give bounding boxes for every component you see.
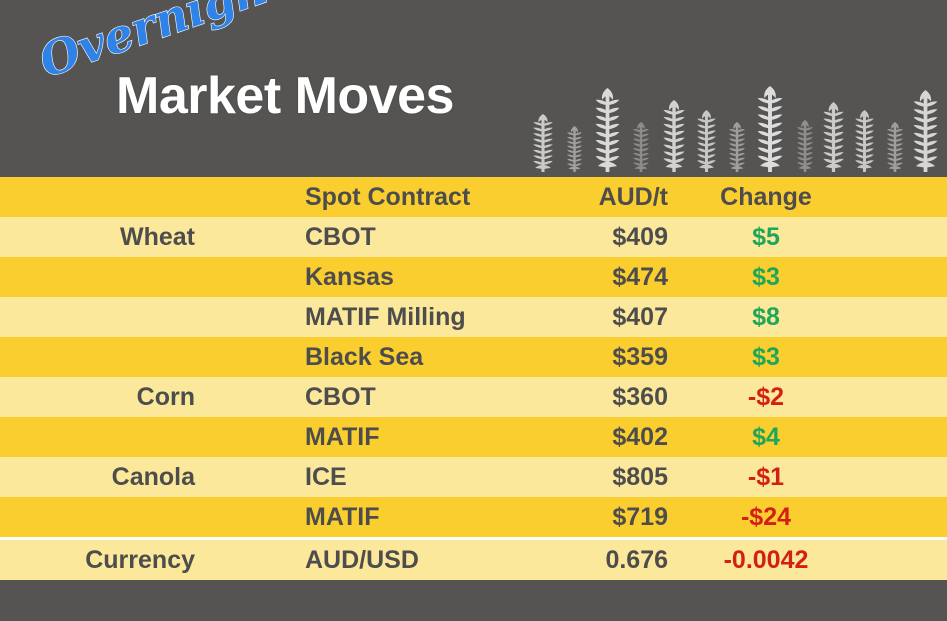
wheat-stalk-icon	[696, 110, 717, 172]
table-row: MATIF$402$4	[0, 417, 947, 457]
wheat-stalk-icon	[822, 102, 845, 172]
cell-contract: MATIF	[305, 497, 380, 537]
cell-price: $359	[468, 337, 668, 377]
column-header-contract: Spot Contract	[305, 177, 470, 217]
cell-change: -$1	[672, 457, 860, 497]
cell-commodity	[0, 497, 195, 537]
title-block: Overnight Market Moves	[48, 18, 518, 158]
cell-change: -0.0042	[672, 540, 860, 580]
table-row: CanolaICE$805-$1	[0, 457, 947, 497]
cell-price: $409	[468, 217, 668, 257]
cell-price: $805	[468, 457, 668, 497]
cell-commodity: Corn	[0, 377, 195, 417]
table-row: WheatCBOT$409$5	[0, 217, 947, 257]
wheat-stalk-icon	[854, 110, 875, 172]
table-row: MATIF$719-$24	[0, 497, 947, 537]
cell-contract: MATIF	[305, 417, 380, 457]
page-title: Market Moves	[116, 66, 454, 126]
cell-contract: Kansas	[305, 257, 394, 297]
market-table: Spot Contract AUD/t Change WheatCBOT$409…	[0, 177, 947, 580]
cell-price: 0.676	[468, 540, 668, 580]
cell-contract: CBOT	[305, 217, 376, 257]
cell-price: $719	[468, 497, 668, 537]
wheat-stalk-icon	[594, 88, 621, 172]
cell-commodity: Canola	[0, 457, 195, 497]
cell-change: $8	[672, 297, 860, 337]
table-body: WheatCBOT$409$5Kansas$474$3MATIF Milling…	[0, 217, 947, 580]
cell-commodity	[0, 417, 195, 457]
cell-price: $407	[468, 297, 668, 337]
wheat-stalk-icon	[728, 122, 746, 172]
cell-change: -$2	[672, 377, 860, 417]
cell-change: $4	[672, 417, 860, 457]
cell-commodity	[0, 337, 195, 377]
table-row: Black Sea$359$3	[0, 337, 947, 377]
cell-commodity	[0, 297, 195, 337]
cell-commodity: Currency	[0, 540, 195, 580]
wheat-stalk-icon	[662, 100, 686, 172]
footer-banner	[0, 580, 947, 621]
wheat-stalk-icon	[886, 122, 904, 172]
table-row: CurrencyAUD/USD0.676-0.0042	[0, 540, 947, 580]
table-row: CornCBOT$360-$2	[0, 377, 947, 417]
cell-commodity	[0, 257, 195, 297]
cell-change: $5	[672, 217, 860, 257]
cell-contract: ICE	[305, 457, 347, 497]
market-moves-graphic: Overnight Market Moves Spot Contract AUD…	[0, 0, 947, 621]
wheat-stalk-icon	[796, 120, 814, 172]
table-header-row: Spot Contract AUD/t Change	[0, 177, 947, 217]
wheat-stalk-icon	[566, 126, 583, 172]
column-header-commodity	[0, 177, 195, 217]
cell-price: $402	[468, 417, 668, 457]
wheat-decoration	[528, 82, 940, 172]
cell-contract: AUD/USD	[305, 540, 419, 580]
cell-commodity: Wheat	[0, 217, 195, 257]
cell-change: $3	[672, 257, 860, 297]
cell-price: $360	[468, 377, 668, 417]
column-header-change: Change	[672, 177, 860, 217]
wheat-stalk-icon	[756, 86, 784, 172]
table-row: MATIF Milling$407$8	[0, 297, 947, 337]
cell-price: $474	[468, 257, 668, 297]
cell-change: -$24	[672, 497, 860, 537]
wheat-stalk-icon	[532, 114, 554, 172]
column-header-price: AUD/t	[468, 177, 668, 217]
cell-contract: Black Sea	[305, 337, 423, 377]
cell-contract: MATIF Milling	[305, 297, 466, 337]
wheat-stalk-icon	[912, 90, 939, 172]
cell-contract: CBOT	[305, 377, 376, 417]
cell-change: $3	[672, 337, 860, 377]
table-row: Kansas$474$3	[0, 257, 947, 297]
header-banner: Overnight Market Moves	[0, 0, 947, 177]
wheat-stalk-icon	[632, 122, 650, 172]
